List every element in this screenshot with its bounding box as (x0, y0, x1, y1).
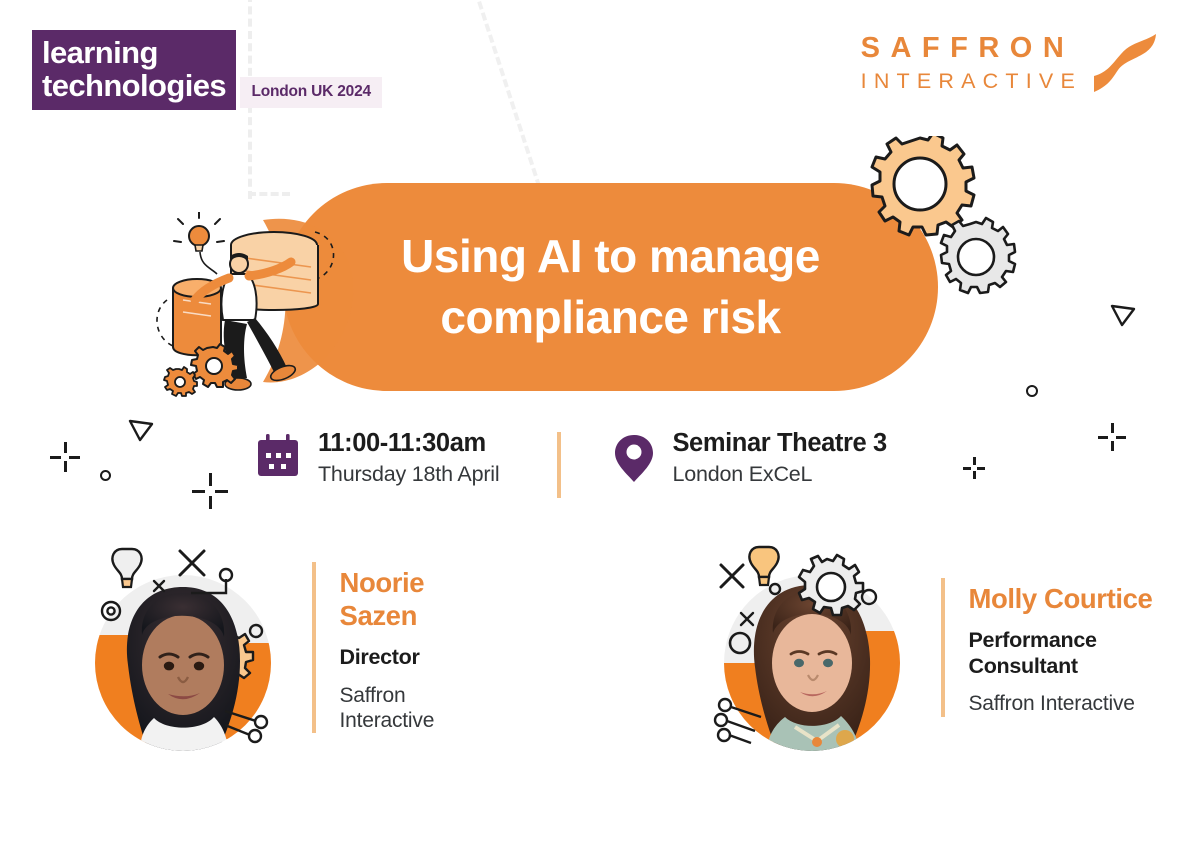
speaker-info: Noorie Sazen Director Saffron Interactiv… (312, 562, 499, 733)
calendar-icon (255, 433, 301, 479)
speaker-role: Director (340, 645, 500, 671)
lt-logo-line1: learning (42, 35, 158, 70)
speaker-role: Performance Consultant (969, 628, 1200, 680)
event-details: 11:00-11:30am Thursday 18th April Semina… (255, 428, 887, 498)
title-line2: compliance risk (440, 291, 780, 343)
speaker-name: Molly Courtice (969, 582, 1200, 616)
plus-mark (1098, 423, 1126, 451)
avatar (70, 535, 300, 760)
triangle-outline (1110, 303, 1136, 327)
circle-outline (100, 470, 111, 481)
plus-mark (192, 473, 228, 509)
speaker-card: Molly Courtice Performance Consultant Sa… (699, 535, 1200, 760)
speaker-org: Saffron Interactive (340, 683, 500, 733)
speaker-accent-bar (941, 578, 945, 716)
plus-mark (963, 457, 985, 479)
speaker-portrait-noorie (70, 535, 300, 760)
saffron-interactive-logo: SAFFRON INTERACTIVE (861, 26, 1162, 100)
session-title-banner: Using AI to manage compliance risk (283, 183, 938, 391)
speaker-card: Noorie Sazen Director Saffron Interactiv… (70, 535, 499, 760)
speaker-org: Saffron Interactive (969, 691, 1200, 716)
lt-logo-line2: technologies (42, 69, 226, 102)
detail-location-sub: London ExCeL (672, 462, 886, 487)
poster-canvas: learning technologies London UK 2024 SAF… (0, 0, 1200, 842)
speaker-name: Noorie Sazen (340, 566, 500, 633)
speaker-portrait-molly (699, 535, 929, 760)
gears-icon (862, 136, 1022, 306)
triangle-outline (128, 418, 154, 442)
saffron-logo-line1: SAFFRON (861, 33, 1082, 65)
details-divider (557, 432, 561, 498)
detail-time: 11:00-11:30am Thursday 18th April (255, 428, 499, 487)
background-dashed-line-diagonal (470, 0, 545, 199)
speaker-info: Molly Courtice Performance Consultant Sa… (941, 578, 1200, 716)
speaker-accent-bar (312, 562, 316, 733)
detail-time-main: 11:00-11:30am (318, 428, 499, 458)
location-pin-icon (613, 433, 655, 483)
circle-outline (1026, 385, 1038, 397)
page-title: Using AI to manage compliance risk (401, 226, 820, 347)
s-curve-swoosh-icon (1088, 28, 1162, 100)
title-line1: Using AI to manage (401, 230, 820, 282)
plus-mark (50, 442, 80, 472)
detail-location-main: Seminar Theatre 3 (672, 428, 886, 458)
person-with-cylinders-illustration (143, 212, 358, 407)
learning-technologies-logo: learning technologies London UK 2024 (32, 30, 382, 110)
lt-logo-location-year: London UK 2024 (240, 77, 382, 108)
detail-time-sub: Thursday 18th April (318, 462, 499, 487)
speakers-list: Noorie Sazen Director Saffron Interactiv… (70, 535, 1200, 760)
avatar (699, 535, 929, 760)
lt-logo-wordmark: learning technologies (32, 30, 236, 110)
background-dashed-line-corner (248, 192, 290, 196)
saffron-logo-line2: INTERACTIVE (861, 69, 1082, 94)
detail-location: Seminar Theatre 3 London ExCeL (613, 428, 886, 487)
